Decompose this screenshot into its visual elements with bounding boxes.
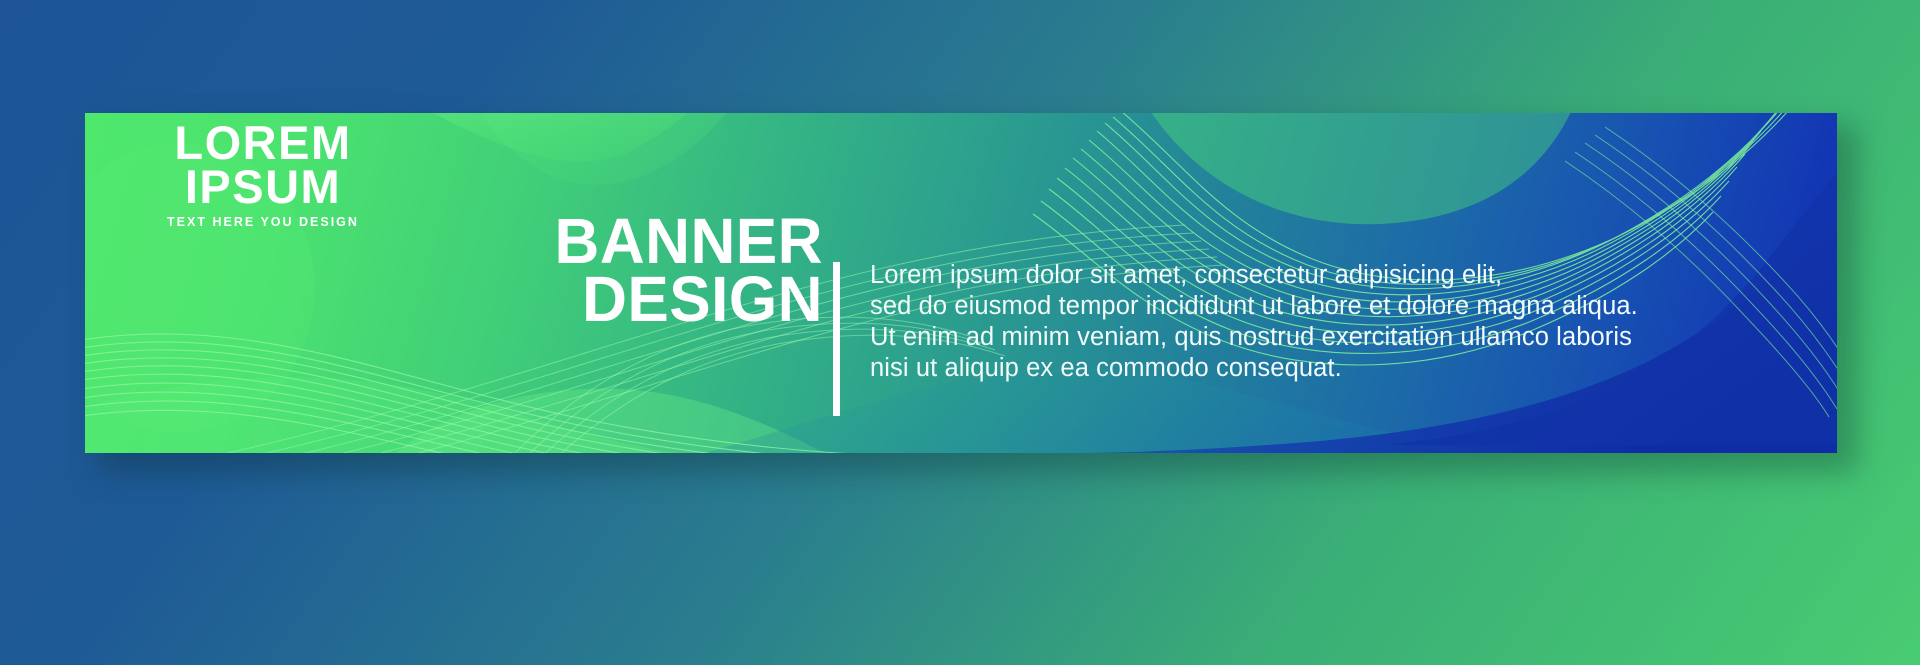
banner-canvas: LOREM IPSUM TEXT HERE YOU DESIGN BANNER … xyxy=(0,0,1920,665)
logo-tagline: TEXT HERE YOU DESIGN xyxy=(113,215,413,229)
banner-card: LOREM IPSUM TEXT HERE YOU DESIGN BANNER … xyxy=(85,113,1837,453)
paragraph-line: nisi ut aliquip ex ea commodo consequat. xyxy=(870,353,1810,384)
logo-line-2: IPSUM xyxy=(113,165,413,209)
headline-block: BANNER DESIGN xyxy=(373,213,823,328)
paragraph-line: Ut enim ad minim veniam, quis nostrud ex… xyxy=(870,322,1810,353)
headline-line-2: DESIGN xyxy=(387,271,824,329)
paragraph-block: Lorem ipsum dolor sit amet, consectetur … xyxy=(870,260,1810,384)
paragraph-line: sed do eiusmod tempor incididunt ut labo… xyxy=(870,291,1810,322)
banner-content: LOREM IPSUM TEXT HERE YOU DESIGN BANNER … xyxy=(85,113,1837,453)
paragraph-line: Lorem ipsum dolor sit amet, consectetur … xyxy=(870,260,1810,291)
logo-line-1: LOREM xyxy=(113,121,413,165)
logo-block: LOREM IPSUM TEXT HERE YOU DESIGN xyxy=(113,121,413,229)
vertical-divider xyxy=(833,262,840,416)
